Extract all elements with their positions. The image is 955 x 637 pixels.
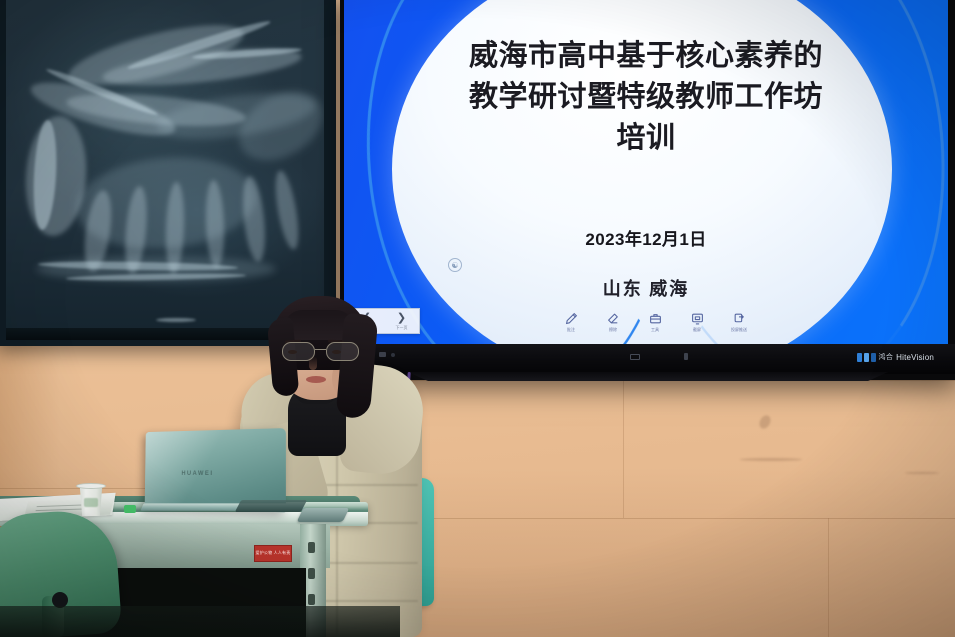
- slide-title-line-1: 威海市高中基于核心素养的: [406, 36, 886, 77]
- toolbox-icon: [649, 312, 662, 325]
- mobile-phone[interactable]: [297, 508, 350, 522]
- eye-left: [288, 350, 297, 354]
- cup-rim: [76, 483, 106, 489]
- laptop-brand-logo: HUAWEI: [181, 471, 213, 477]
- eraser-icon: [607, 312, 620, 325]
- chalkboard-frame: [0, 0, 336, 346]
- panel-brand-logo: 鸿合 HiteVision: [857, 352, 934, 362]
- slide-title: 威海市高中基于核心素养的 教学研讨暨特级教师工作坊 培训: [406, 36, 886, 160]
- panel-bezel-chin: 鸿合 HiteVision: [340, 344, 955, 374]
- screenshot-label: 截屏: [693, 327, 701, 333]
- share-button[interactable]: 投屏推送: [726, 312, 752, 333]
- toolbox-button[interactable]: 工具: [642, 312, 668, 333]
- eraser-tool-label: 擦除: [609, 327, 617, 333]
- eye-right: [332, 350, 341, 354]
- screenshot-button[interactable]: 截屏: [684, 312, 710, 333]
- ir-sensor-icon: [684, 353, 688, 360]
- pen-tool-button[interactable]: 批注: [558, 312, 584, 333]
- desk-label-text: 爱护公物 人人有责: [256, 551, 291, 556]
- home-button-icon[interactable]: [630, 354, 640, 360]
- brand-mark-icon: [857, 353, 876, 362]
- eraser-tool-button[interactable]: 擦除: [600, 312, 626, 333]
- desk-leg-hole: [308, 594, 315, 605]
- slide-watermark-icon: ☯: [448, 258, 462, 272]
- brand-name-en: HiteVision: [896, 353, 934, 362]
- pen-tool-label: 批注: [567, 327, 575, 333]
- slide-title-line-2: 教学研讨暨特级教师工作坊: [406, 77, 886, 118]
- desk-clip: [124, 505, 136, 513]
- interactive-flat-panel[interactable]: 威海市高中基于核心素养的 教学研讨暨特级教师工作坊 培训 2023年12月1日 …: [340, 0, 955, 380]
- share-icon: [733, 312, 746, 325]
- mouth: [306, 376, 326, 383]
- slide-title-line-3: 培训: [406, 118, 886, 159]
- pen-icon: [565, 312, 578, 325]
- annotation-toolbar[interactable]: 批注 擦除 工具: [558, 312, 752, 333]
- chalkboard: [6, 0, 324, 338]
- toolbox-label: 工具: [651, 327, 659, 333]
- desk-property-label: 爱护公物 人人有责: [254, 545, 292, 562]
- desk-leg-hole: [308, 568, 315, 579]
- wall-scuff: [740, 458, 802, 461]
- glasses-bridge: [315, 349, 326, 350]
- brand-name-cn: 鸿合: [879, 352, 894, 362]
- cup-print: [84, 498, 98, 507]
- lens-right: [326, 342, 359, 361]
- classroom-scene: 威海市高中基于核心素养的 教学研讨暨特级教师工作坊 培训 2023年12月1日 …: [0, 0, 955, 637]
- slide-location: 山东 威海: [344, 275, 948, 301]
- slide-date: 2023年12月1日: [344, 225, 948, 250]
- panel-controls[interactable]: [630, 353, 688, 360]
- panel-screen[interactable]: 威海市高中基于核心素养的 教学研讨暨特级教师工作坊 培训 2023年12月1日 …: [344, 0, 948, 344]
- laptop-keyboard[interactable]: [235, 500, 307, 512]
- desk-leg-hole: [308, 542, 315, 553]
- nose: [309, 356, 317, 370]
- screenshot-icon: [691, 312, 704, 325]
- panel-lower-bezel: [398, 372, 898, 381]
- share-label: 投屏推送: [731, 327, 747, 333]
- floor: [0, 606, 400, 637]
